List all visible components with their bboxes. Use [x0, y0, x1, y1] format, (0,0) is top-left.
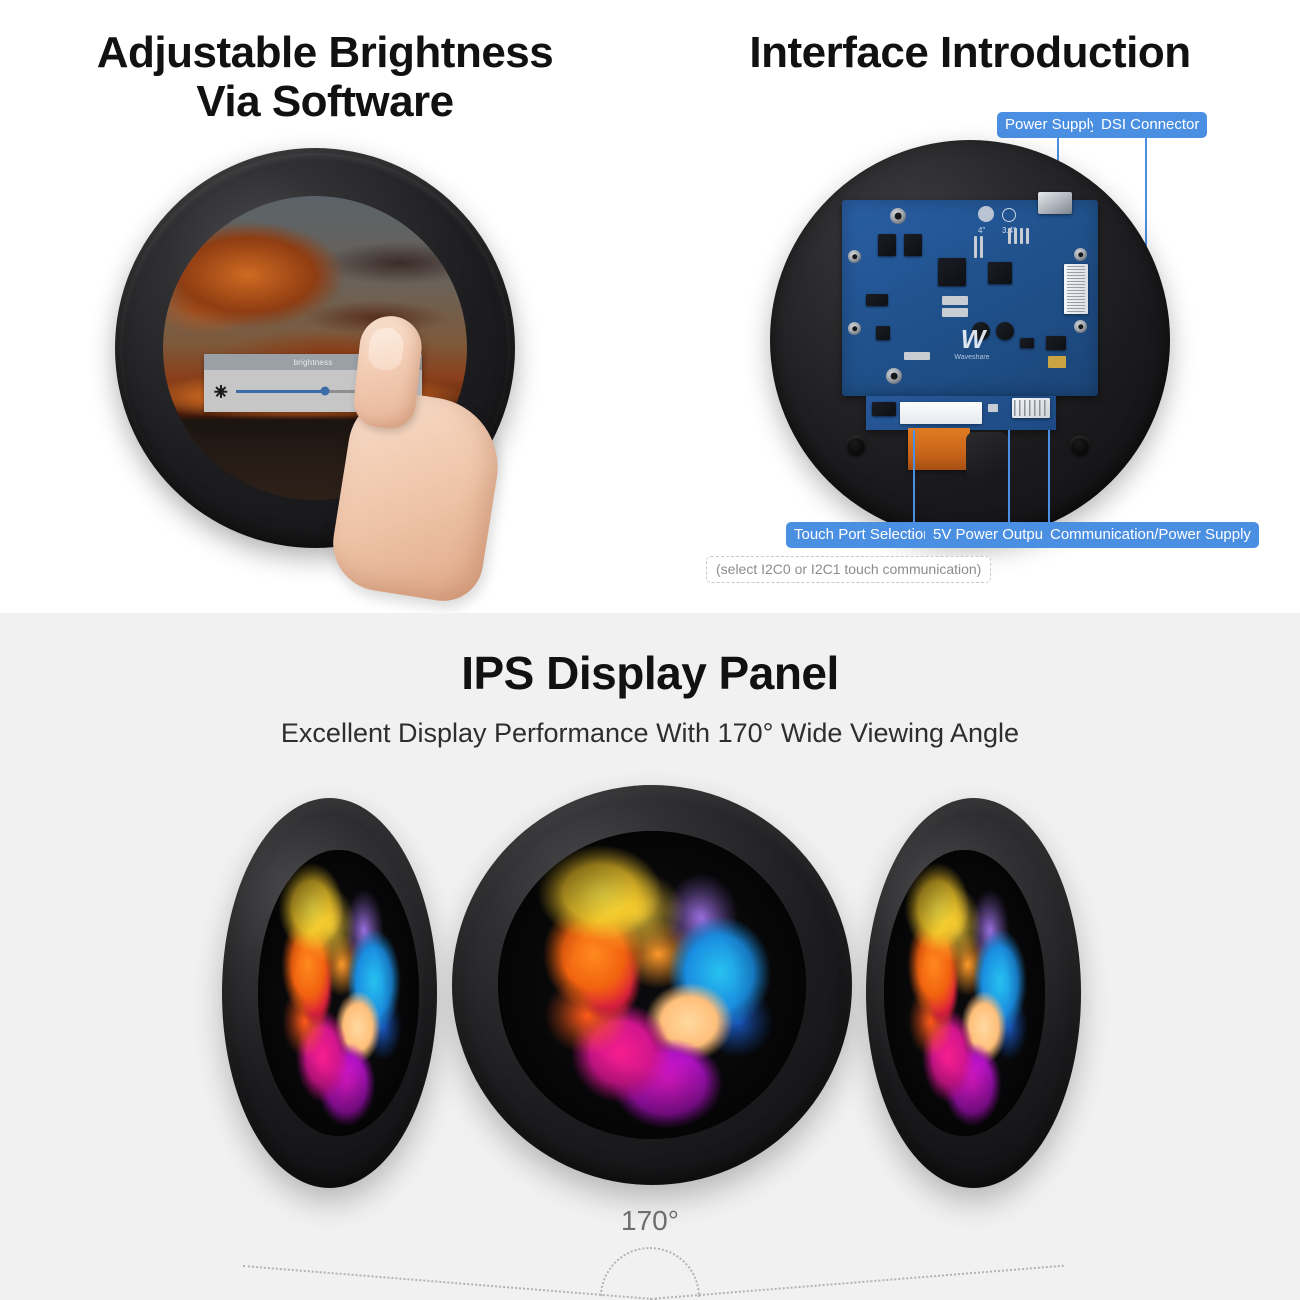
orange-flex-cable: [908, 428, 970, 470]
inductor-2: [996, 322, 1014, 340]
display-right-angled: [866, 798, 1081, 1188]
callout-line-5v-output: [1008, 430, 1010, 522]
pcb-hole-left-low: [848, 322, 861, 335]
module-rear-bump: [966, 432, 1008, 478]
display-screen: brightness – □ ×: [163, 196, 467, 500]
minimize-icon[interactable]: –: [394, 358, 398, 366]
close-icon[interactable]: ×: [413, 358, 418, 366]
touch-communication-note: (select I2C0 or I2C1 touch communication…: [706, 556, 991, 583]
display-center-screen: [498, 831, 806, 1139]
brightness-slider[interactable]: [236, 390, 390, 393]
brightness-panel-title: Adjustable Brightness Via Software: [20, 28, 630, 127]
header-pad-d: [1014, 228, 1017, 244]
regulator-chip-1: [878, 234, 896, 256]
cap-array-1: [904, 352, 930, 360]
usb-power-connector: [1038, 192, 1072, 214]
dialog-body: [204, 370, 422, 412]
mounting-screw-bottom-right: [1070, 436, 1090, 456]
display-left-screen: [258, 850, 419, 1136]
smoke-wallpaper-center: [498, 831, 806, 1139]
resistor-array-2: [942, 308, 968, 317]
dialog-title-text: brightness: [294, 358, 333, 367]
silkscreen-size-4in: 4": [978, 226, 985, 235]
angle-line-left: [243, 1265, 657, 1300]
angle-arc-icon: [600, 1247, 700, 1297]
brightness-title-line2: Via Software: [20, 77, 630, 126]
maximize-icon[interactable]: □: [403, 358, 408, 366]
brightness-title-line1: Adjustable Brightness: [20, 28, 630, 77]
pcb-board: 4" 3.4": [842, 200, 1098, 396]
callout-communication-power-supply[interactable]: Communication/Power Supply: [1042, 522, 1259, 548]
lcd-fpc-socket: [900, 402, 982, 424]
viewing-angle-displays: [0, 783, 1300, 1203]
display-right-screen: [884, 850, 1045, 1136]
top-section: Adjustable Brightness Via Software brigh…: [0, 0, 1300, 613]
pcb-hole-right-low: [1074, 320, 1087, 333]
pcb-hole-right-mid: [1074, 248, 1087, 261]
sun-high-icon: [398, 384, 412, 398]
touch-port-selection-jumper: [872, 402, 896, 416]
callout-line-communication: [1048, 430, 1050, 522]
callout-line-touch-port: [913, 430, 915, 522]
jst-communication-connector: [1012, 398, 1050, 418]
callout-power-supply[interactable]: Power Supply: [997, 112, 1106, 138]
interface-panel-title: Interface Introduction: [660, 28, 1280, 77]
power-output-pads: [988, 404, 998, 412]
smoke-wallpaper-right: [884, 850, 1045, 1136]
callout-dsi-connector[interactable]: DSI Connector: [1093, 112, 1207, 138]
brightness-dialog[interactable]: brightness – □ ×: [204, 354, 422, 412]
sun-low-icon: [214, 384, 228, 398]
pcb-hole-bottom-left: [886, 368, 902, 384]
smoke-wallpaper-left: [258, 850, 419, 1136]
main-soc-chip: [938, 258, 966, 286]
gold-pads-jumper: [1048, 356, 1066, 368]
header-pad-a: [974, 236, 977, 258]
display-left-angled: [222, 798, 437, 1188]
callout-touch-port-selection[interactable]: Touch Port Selection: [786, 522, 940, 548]
resistor-array-1: [942, 296, 968, 305]
brightness-display-module: brightness – □ ×: [115, 148, 515, 548]
small-chip-right: [1020, 338, 1034, 348]
pcb-pad-circle-4in: [978, 206, 994, 222]
slider-knob[interactable]: [321, 387, 330, 396]
pcb-hole-left-mid: [848, 250, 861, 263]
slider-fill: [236, 390, 325, 393]
window-controls: – □ ×: [394, 354, 418, 370]
ips-panel-title: IPS Display Panel: [0, 646, 1300, 700]
waveshare-brand-text: Waveshare: [940, 354, 1004, 361]
ips-panel-subtitle: Excellent Display Performance With 170° …: [0, 718, 1300, 749]
dsi-fpc-connector: [1064, 264, 1088, 314]
header-pad-c: [1008, 228, 1011, 244]
soic-chip-left: [866, 294, 888, 306]
dialog-titlebar: brightness – □ ×: [204, 354, 422, 370]
header-pad-b: [980, 236, 983, 258]
sunset-wallpaper: [163, 196, 467, 500]
jumper-block: [1046, 336, 1066, 350]
viewing-angle-diagram: 170°: [0, 1205, 1300, 1300]
viewing-angle-label: 170°: [0, 1205, 1300, 1237]
pcb-pad-circle-3-4in: [1002, 208, 1016, 222]
display-center-front: [452, 785, 852, 1185]
header-pad-e: [1020, 228, 1023, 244]
interface-display-module: 4" 3.4": [770, 140, 1170, 540]
ips-panel-section: IPS Display Panel Excellent Display Perf…: [0, 613, 1300, 1300]
mounting-screw-bottom-left: [846, 436, 866, 456]
small-chip-left: [876, 326, 890, 340]
angle-line-right: [650, 1265, 1064, 1300]
header-pad-f: [1026, 228, 1029, 244]
callout-5v-power-output[interactable]: 5V Power Output: [925, 522, 1055, 548]
product-infographic: Adjustable Brightness Via Software brigh…: [0, 0, 1300, 1300]
regulator-chip-2: [904, 234, 922, 256]
pcb-hole-top-left: [890, 208, 906, 224]
secondary-chip: [988, 262, 1012, 284]
